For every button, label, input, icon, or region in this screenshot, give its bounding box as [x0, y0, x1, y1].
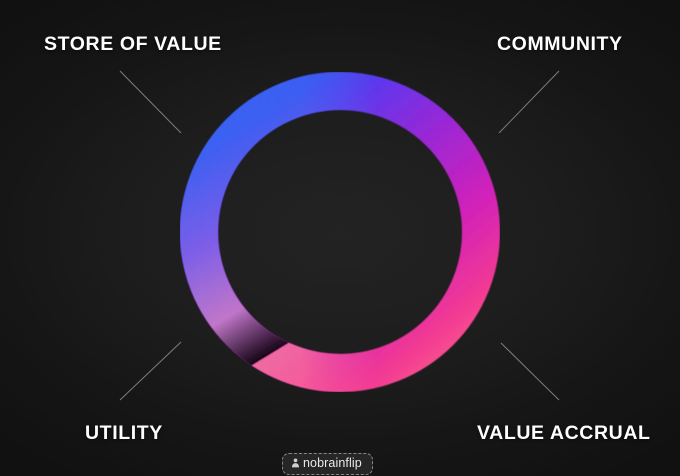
- gradient-ring: [180, 72, 500, 392]
- label-community: COMMUNITY: [497, 33, 623, 56]
- connector-community: [499, 71, 559, 133]
- watermark-badge[interactable]: nobrainflip: [282, 453, 373, 475]
- connector-value-accrual: [501, 343, 559, 400]
- infographic-canvas: STORE OF VALUE COMMUNITY UTILITY VALUE A…: [0, 0, 680, 476]
- watermark-text: nobrainflip: [303, 457, 362, 470]
- label-store-of-value: STORE OF VALUE: [44, 33, 222, 56]
- label-value-accrual: VALUE ACCRUAL: [477, 422, 651, 445]
- connector-store-of-value: [120, 71, 181, 133]
- connector-utility: [120, 342, 181, 400]
- label-utility: UTILITY: [85, 422, 163, 445]
- person-silhouette-icon: [291, 458, 300, 468]
